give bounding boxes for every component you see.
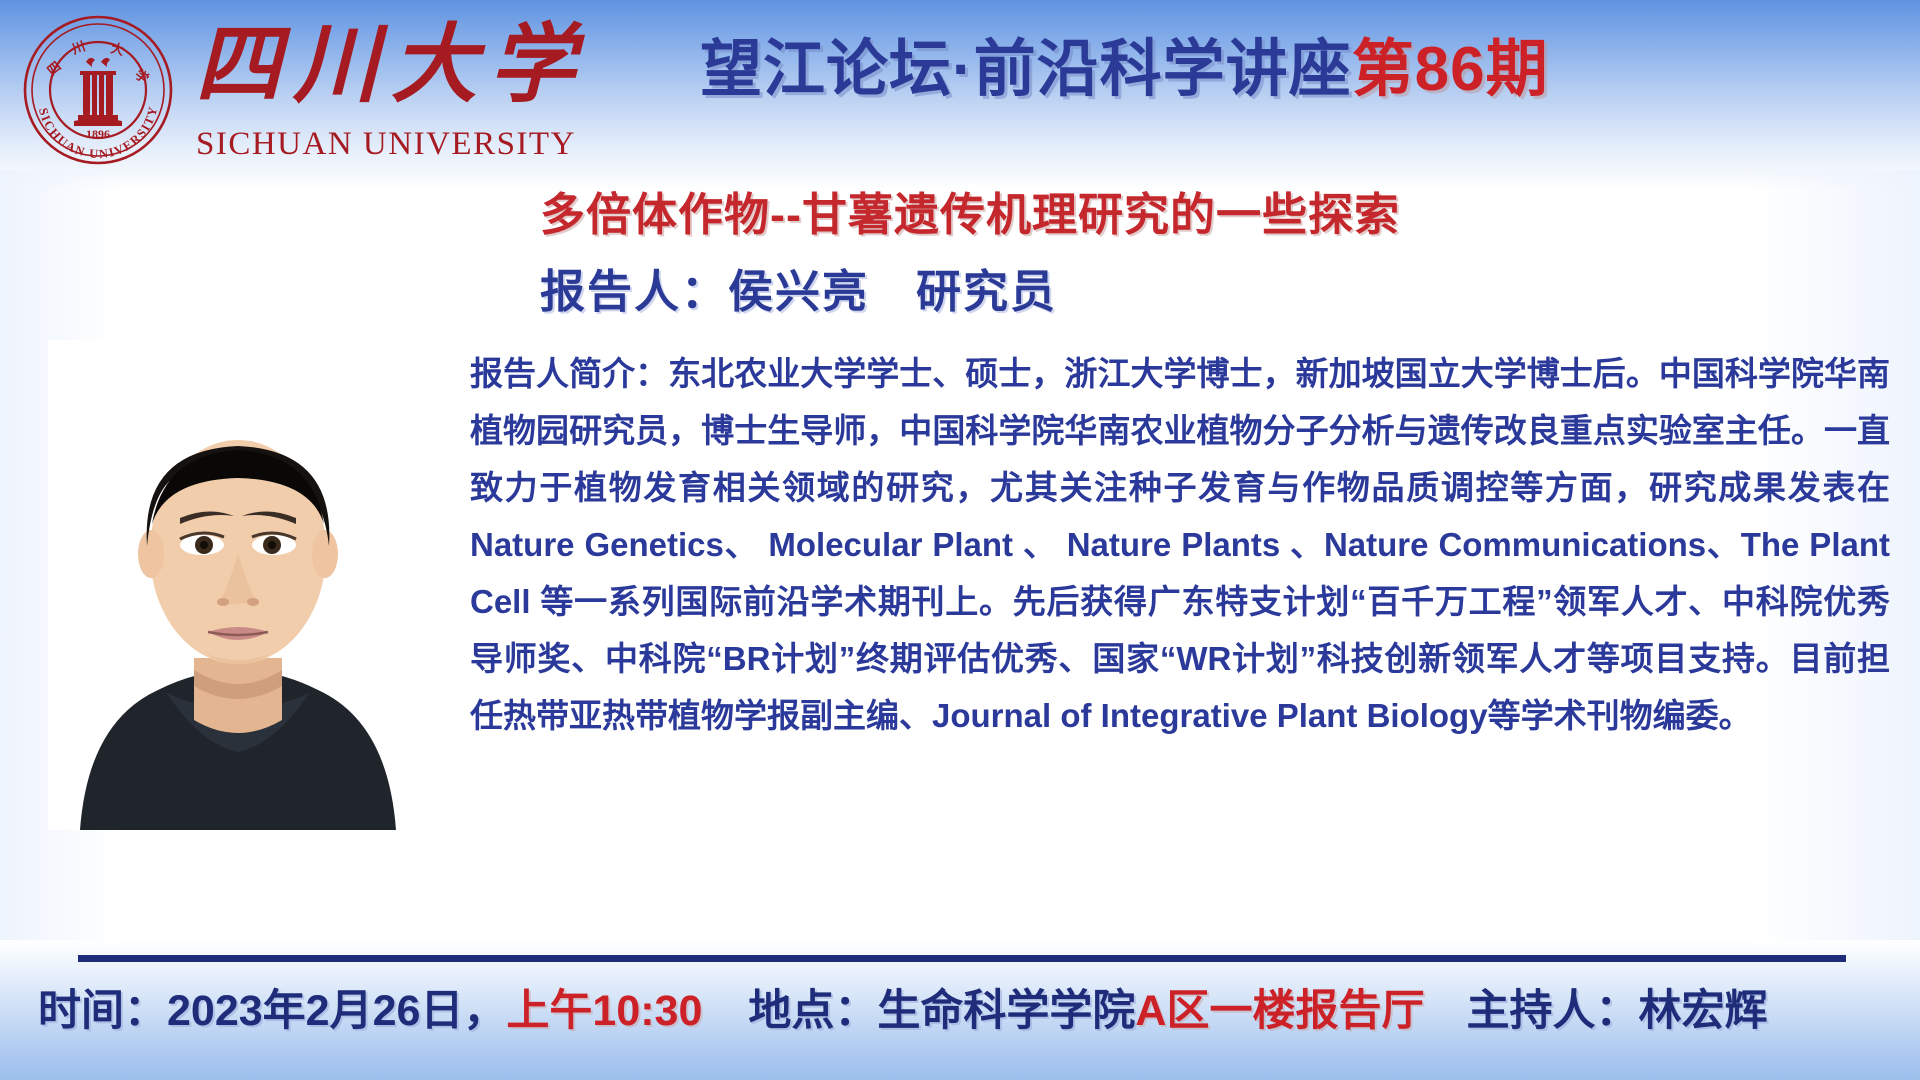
svg-text:学: 学 bbox=[132, 67, 151, 87]
svg-text:川: 川 bbox=[69, 38, 87, 57]
time-value: 上午10:30 bbox=[506, 987, 702, 1035]
place-label: 地点： bbox=[748, 987, 877, 1035]
issue-number: 第86期 bbox=[1352, 35, 1549, 104]
university-logo: 四 川 大 学 1896 SICHUAN UNIVERSITY 四川大学 bbox=[10, 8, 570, 183]
speaker-portrait bbox=[48, 340, 428, 830]
university-name-en: SICHUAN UNIVERSITY bbox=[196, 126, 576, 163]
university-seal-icon: 四 川 大 学 1896 SICHUAN UNIVERSITY bbox=[22, 14, 174, 166]
host-label: 主持人： bbox=[1466, 987, 1638, 1035]
talk-title: 多倍体作物--甘薯遗传机理研究的一些探索 bbox=[540, 185, 1880, 245]
time-date: 2023年2月26日， bbox=[167, 987, 506, 1035]
footer-divider bbox=[78, 955, 1846, 962]
poster-footer: 时间：2023年2月26日，上午10:30地点：生命科学学院A区一楼报告厅主持人… bbox=[0, 962, 1920, 1080]
host-name: 林宏辉 bbox=[1638, 987, 1767, 1035]
poster-body: 多倍体作物--甘薯遗传机理研究的一些探索 报告人：侯兴亮 研究员 bbox=[0, 190, 1920, 960]
svg-text:大: 大 bbox=[109, 40, 125, 58]
lecture-poster: 四 川 大 学 1896 SICHUAN UNIVERSITY 四川大学 bbox=[0, 0, 1920, 1080]
time-label: 时间： bbox=[38, 987, 167, 1035]
svg-text:四: 四 bbox=[44, 58, 64, 78]
footer-info-line: 时间：2023年2月26日，上午10:30地点：生命科学学院A区一楼报告厅主持人… bbox=[0, 976, 1920, 1038]
speaker-line: 报告人：侯兴亮 研究员 bbox=[540, 262, 1880, 322]
series-title-bar: 望江论坛·前沿科学讲座第86期 bbox=[700, 26, 1900, 116]
poster-header: 四 川 大 学 1896 SICHUAN UNIVERSITY 四川大学 bbox=[0, 0, 1920, 190]
svg-text:1896: 1896 bbox=[86, 127, 110, 141]
series-title-text: 望江论坛·前沿科学讲座 bbox=[700, 35, 1352, 104]
place-highlight: A区一楼报告厅 bbox=[1135, 987, 1424, 1035]
place-prefix: 生命科学学院 bbox=[877, 987, 1135, 1035]
university-name-cn: 四川大学 bbox=[195, 22, 587, 108]
speaker-bio: 报告人简介：东北农业大学学士、硕士，浙江大学博士，新加坡国立大学博士后。中国科学… bbox=[470, 345, 1890, 744]
